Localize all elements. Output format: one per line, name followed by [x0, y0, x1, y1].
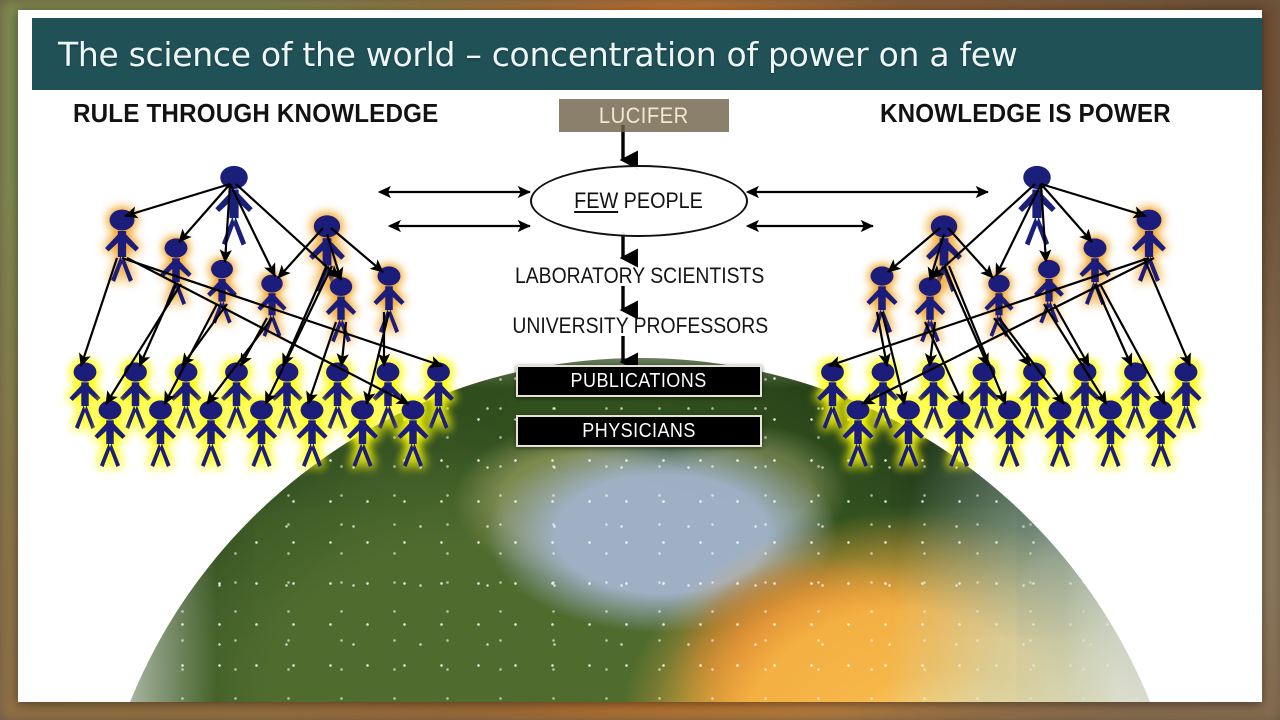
few-people-text: FEW PEOPLE: [575, 188, 704, 214]
lucifer-label: LUCIFER: [559, 99, 729, 132]
university-professors-label: UNIVERSITY PROFESSORS: [18, 313, 1262, 339]
connector-arrow: [1041, 184, 1146, 216]
laboratory-scientists-label: LABORATORY SCIENTISTS: [18, 263, 1262, 289]
people-rest: PEOPLE: [619, 188, 704, 213]
connector-arrow: [1041, 184, 1046, 262]
connector-arrow: [106, 284, 181, 404]
physicians-box: PHYSICIANS: [516, 415, 762, 447]
slide-canvas: The science of the world – concentration…: [18, 10, 1262, 702]
publications-text: PUBLICATIONS: [571, 370, 707, 393]
connector-arrow: [1100, 284, 1165, 404]
header-rule-through-knowledge: RULE THROUGH KNOWLEDGE: [73, 98, 438, 129]
page-title: The science of the world – concentration…: [32, 35, 1017, 74]
header-knowledge-is-power: KNOWLEDGE IS POWER: [880, 98, 1171, 129]
physicians-text: PHYSICIANS: [582, 420, 696, 443]
few-underlined: FEW: [575, 188, 619, 213]
slide-title-bar: The science of the world – concentration…: [32, 18, 1262, 90]
lucifer-text: LUCIFER: [599, 103, 689, 129]
publications-box: PUBLICATIONS: [516, 365, 762, 397]
connector-arrow: [225, 184, 230, 262]
few-people-node: FEW PEOPLE: [530, 165, 748, 237]
connector-arrow: [125, 184, 230, 216]
laboratory-scientists-text: LABORATORY SCIENTISTS: [515, 263, 764, 289]
university-professors-text: UNIVERSITY PROFESSORS: [512, 313, 768, 339]
